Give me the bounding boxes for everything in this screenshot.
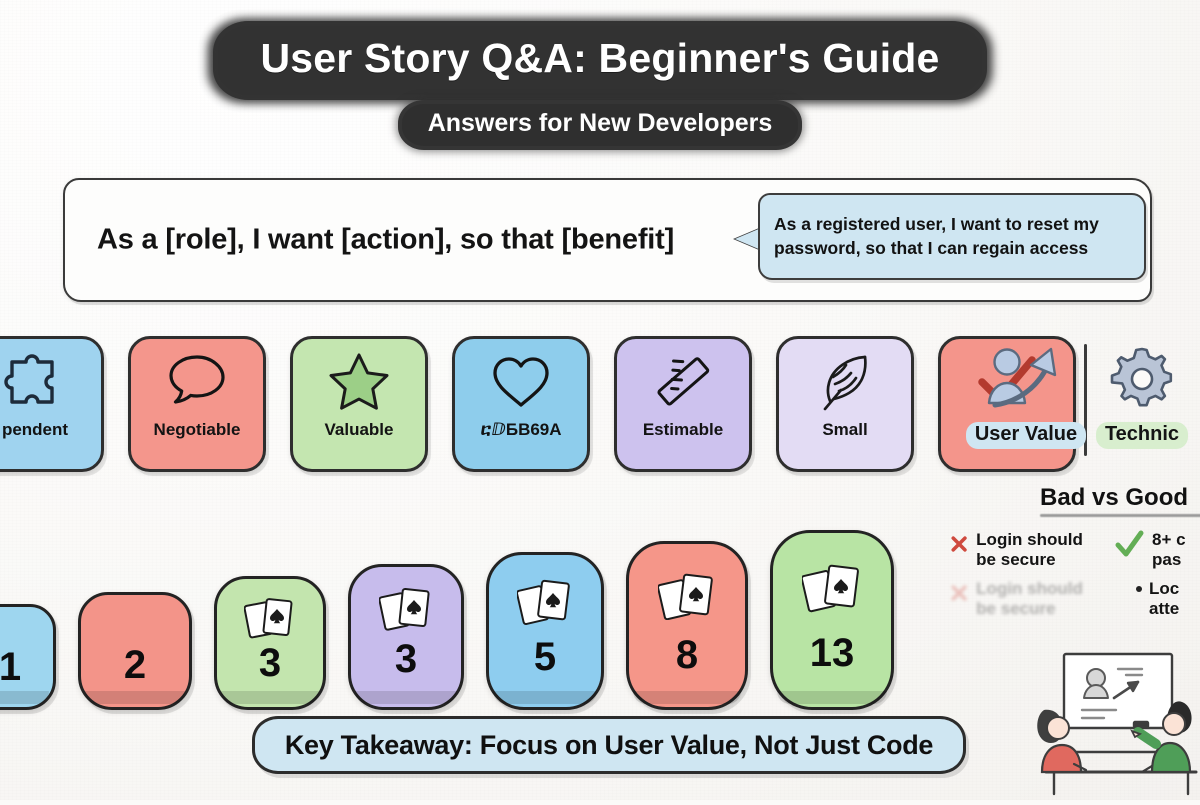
invest-card-garbled[interactable]: ⴀⅅБВ69А <box>452 336 590 472</box>
invest-card-estimable[interactable]: Estimable <box>614 336 752 472</box>
page-title: User Story Q&A: Beginner's Guide <box>0 26 1200 95</box>
key-takeaway-text: Key Takeaway: Focus on User Value, Not J… <box>285 730 933 761</box>
example-speech-bubble: As a registered user, I want to reset my… <box>758 193 1146 280</box>
invest-card-row: pendent Negotiable Valuable <box>0 336 1076 472</box>
value-axis-panel: User Value Technic <box>968 336 1200 468</box>
subtitle-text: Answers for New Developers <box>428 109 773 137</box>
card-shadow <box>221 691 319 704</box>
invest-card-label: Valuable <box>325 421 394 438</box>
good-column: 8+ c pas Loc atte <box>1114 530 1200 629</box>
star-icon <box>293 339 425 423</box>
title-text: User Story Q&A: Beginner's Guide <box>260 35 939 81</box>
invest-card-label: Negotiable <box>154 421 241 438</box>
user-story-formula: As a [role], I want [action], so that [b… <box>97 224 674 257</box>
good-bullet-line1: Loc <box>1149 579 1179 599</box>
story-point-value: 8 <box>676 635 698 675</box>
story-point-value: 1 <box>0 647 21 687</box>
story-point-value: 5 <box>534 637 556 677</box>
story-point-card[interactable]: 3 <box>348 564 464 710</box>
heading-underline <box>1040 514 1200 517</box>
bad-vs-good-columns: Login should be secure Login should be s… <box>950 530 1200 629</box>
good-item-line1: 8+ c <box>1152 530 1186 550</box>
feather-icon <box>779 339 911 423</box>
axis-label-user-value: User Value <box>966 422 1086 449</box>
playing-cards-icon <box>802 561 862 618</box>
title-band: User Story Q&A: Beginner's Guide <box>218 26 981 95</box>
example-story-text: As a registered user, I want to reset my… <box>774 213 1130 260</box>
invest-card-negotiable[interactable]: Negotiable <box>128 336 266 472</box>
heart-icon <box>455 339 587 423</box>
story-point-card-row: 1 2 3 <box>0 530 894 710</box>
story-point-value: 2 <box>124 645 146 685</box>
invest-card-label: pendent <box>2 421 68 438</box>
team-presentation-illustration <box>1022 640 1200 800</box>
story-point-value: 13 <box>810 633 855 673</box>
axis-item-technical[interactable]: Technic <box>1084 336 1200 468</box>
good-bullet-line2: atte <box>1149 599 1179 619</box>
good-item-line2: pas <box>1152 550 1186 570</box>
bad-item-text: Login should be secure <box>976 530 1100 569</box>
bad-item-faded-text: Login should be secure <box>976 579 1100 618</box>
story-point-value: 3 <box>395 639 417 679</box>
story-point-card[interactable]: 1 <box>0 604 56 710</box>
story-point-card[interactable]: 5 <box>486 552 604 710</box>
playing-cards-icon <box>517 577 573 630</box>
good-item: 8+ c pas <box>1114 530 1200 569</box>
story-point-card[interactable]: 3 <box>214 576 326 710</box>
infographic-canvas: User Story Q&A: Beginner's Guide Answers… <box>0 0 1200 800</box>
card-shadow <box>355 691 457 704</box>
axis-label-technical: Technic <box>1096 422 1188 449</box>
bad-vs-good-section: Bad vs Good Login should be secure Login… <box>1040 484 1200 517</box>
story-point-card[interactable]: 2 <box>78 592 192 710</box>
story-point-value: 3 <box>259 643 281 683</box>
axis-item-user-value[interactable]: User Value <box>968 336 1084 468</box>
invest-card-independent[interactable]: pendent <box>0 336 104 472</box>
speech-bubble-icon <box>131 339 263 423</box>
bad-item-faded: Login should be secure <box>950 579 1100 618</box>
bad-item: Login should be secure <box>950 530 1100 569</box>
story-point-card[interactable]: 8 <box>626 541 748 710</box>
person-growth-arrow-icon <box>983 336 1069 422</box>
key-takeaway-banner: Key Takeaway: Focus on User Value, Not J… <box>252 716 966 774</box>
card-shadow <box>85 691 185 704</box>
card-shadow <box>777 691 887 704</box>
puzzle-piece-icon <box>0 339 101 423</box>
red-x-icon <box>950 579 968 607</box>
green-check-icon <box>1114 530 1144 558</box>
invest-card-valuable[interactable]: Valuable <box>290 336 428 472</box>
playing-cards-icon <box>244 595 296 644</box>
gear-icon <box>1106 336 1178 422</box>
story-point-card[interactable]: 13 <box>770 530 894 710</box>
bad-vs-good-heading: Bad vs Good <box>1040 484 1200 512</box>
subtitle-band: Answers for New Developers <box>402 104 799 146</box>
bullet-dot-icon <box>1136 586 1142 592</box>
bad-column: Login should be secure Login should be s… <box>950 530 1100 629</box>
invest-card-label: ⴀⅅБВ69А <box>480 421 561 438</box>
playing-cards-icon <box>658 570 716 625</box>
playing-cards-icon <box>379 585 433 636</box>
invest-card-label: Small <box>822 421 867 438</box>
card-shadow <box>0 691 49 704</box>
card-shadow <box>633 691 741 704</box>
red-x-icon <box>950 530 968 558</box>
card-shadow <box>493 691 597 704</box>
invest-card-label: Estimable <box>643 421 723 438</box>
invest-card-small[interactable]: Small <box>776 336 914 472</box>
good-bullet-item: Loc atte <box>1136 579 1200 618</box>
page-subtitle: Answers for New Developers <box>0 104 1200 146</box>
ruler-icon <box>617 339 749 423</box>
